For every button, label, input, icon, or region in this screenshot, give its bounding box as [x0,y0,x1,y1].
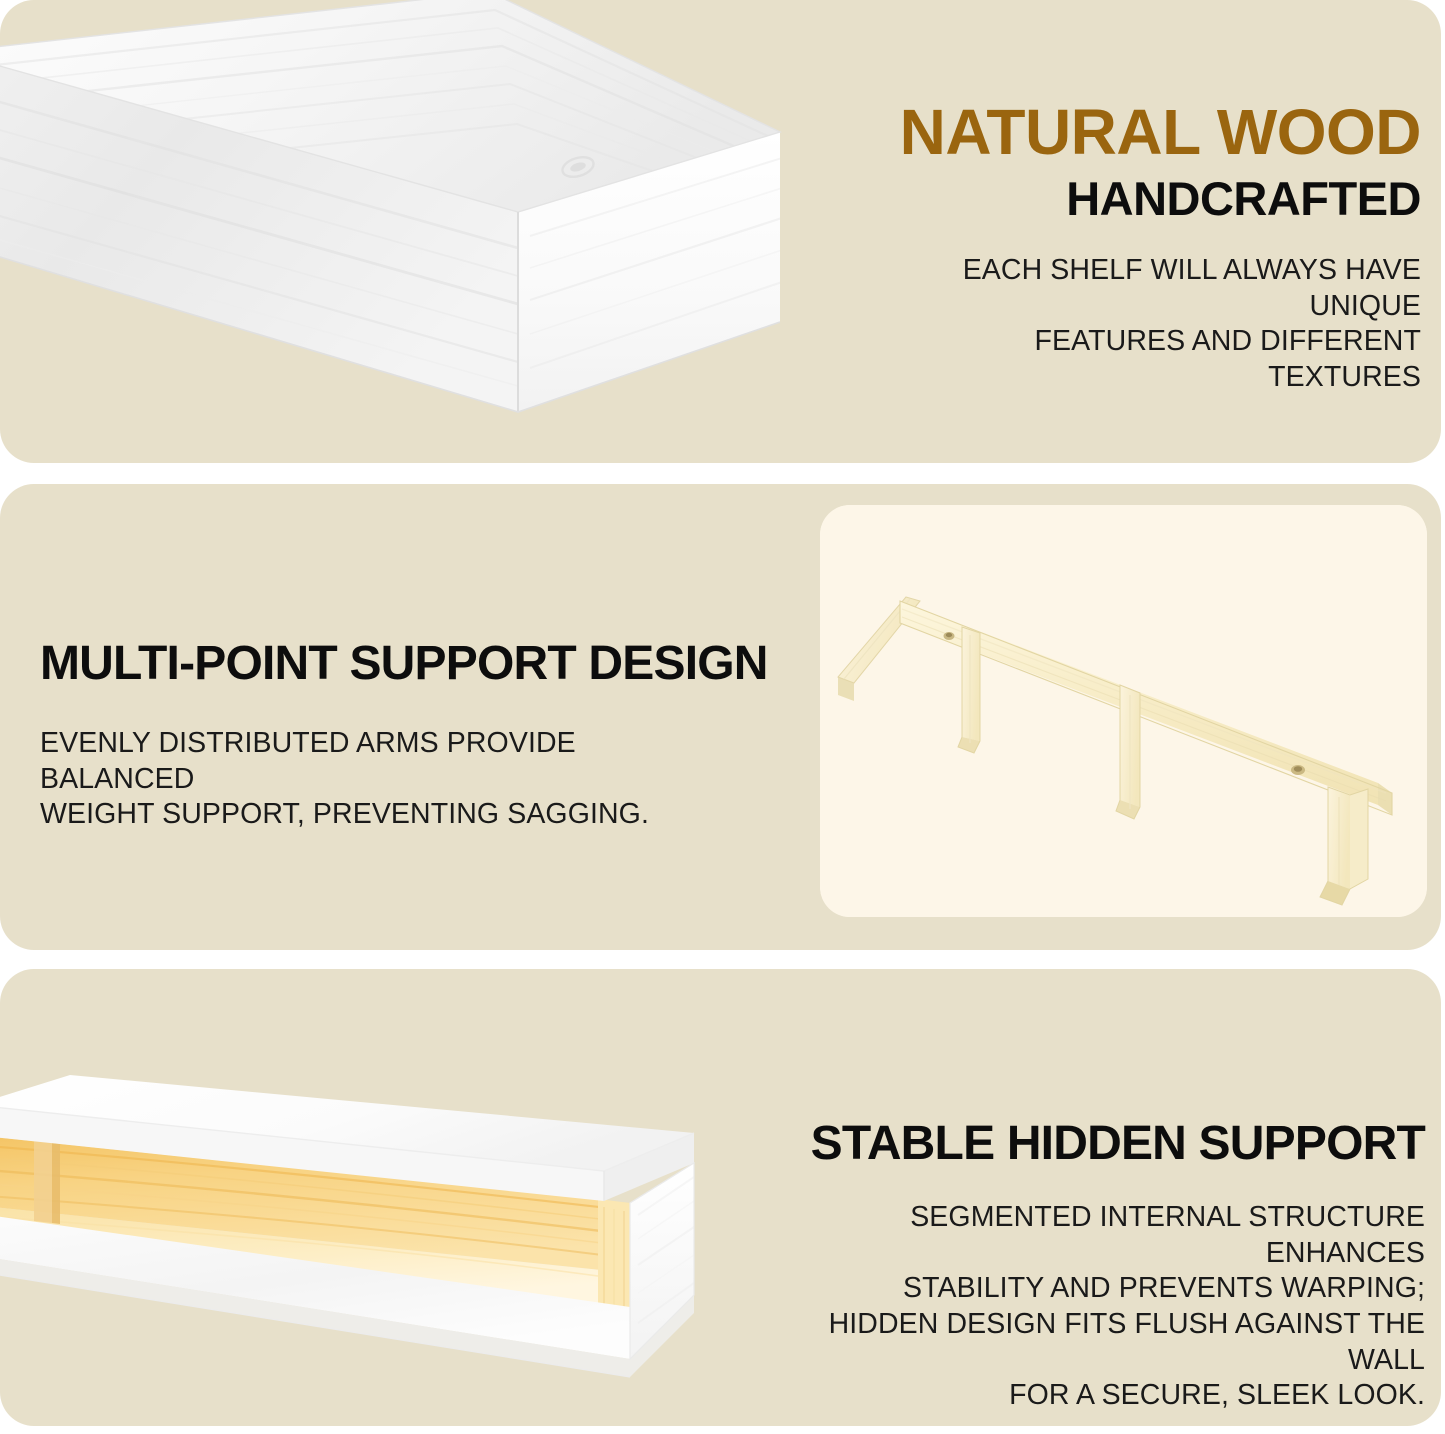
description-line: STABILITY AND PREVENTS WARPING; [805,1271,1425,1307]
panel-natural-wood: NATURAL WOOD HANDCRAFTED EACH SHELF WILL… [0,0,1441,463]
bracket-image-card [820,505,1427,917]
panel-subtitle-handcrafted: HANDCRAFTED [1066,175,1421,222]
panel-description-multi-point: EVENLY DISTRIBUTED ARMS PROVIDE BALANCED… [40,726,700,833]
hollow-white-shelf-cutaway-photo [0,1075,794,1430]
description-line: FEATURES AND DIFFERENT TEXTURES [881,324,1421,395]
panel-description-stable-hidden: SEGMENTED INTERNAL STRUCTURE ENHANCES ST… [805,1200,1425,1414]
panel-description-natural-wood: EACH SHELF WILL ALWAYS HAVE UNIQUE FEATU… [881,253,1421,396]
wooden-multi-arm-wall-bracket-photo [820,505,1427,917]
description-line: EACH SHELF WILL ALWAYS HAVE UNIQUE [881,253,1421,324]
description-line: FOR A SECURE, SLEEK LOOK. [805,1378,1425,1414]
description-line: SEGMENTED INTERNAL STRUCTURE ENHANCES [805,1200,1425,1271]
description-line: EVENLY DISTRIBUTED ARMS PROVIDE BALANCED [40,726,700,797]
description-line: HIDDEN DESIGN FITS FLUSH AGAINST THE WAL… [805,1307,1425,1378]
panel-title-multi-point: MULTI-POINT SUPPORT DESIGN [40,640,768,688]
panel-title-natural-wood: NATURAL WOOD [900,100,1421,164]
description-line: WEIGHT SUPPORT, PREVENTING SAGGING. [40,797,700,833]
panel-title-stable-hidden: STABLE HIDDEN SUPPORT [811,1120,1425,1168]
white-painted-wood-shelf-block-photo [0,0,790,462]
